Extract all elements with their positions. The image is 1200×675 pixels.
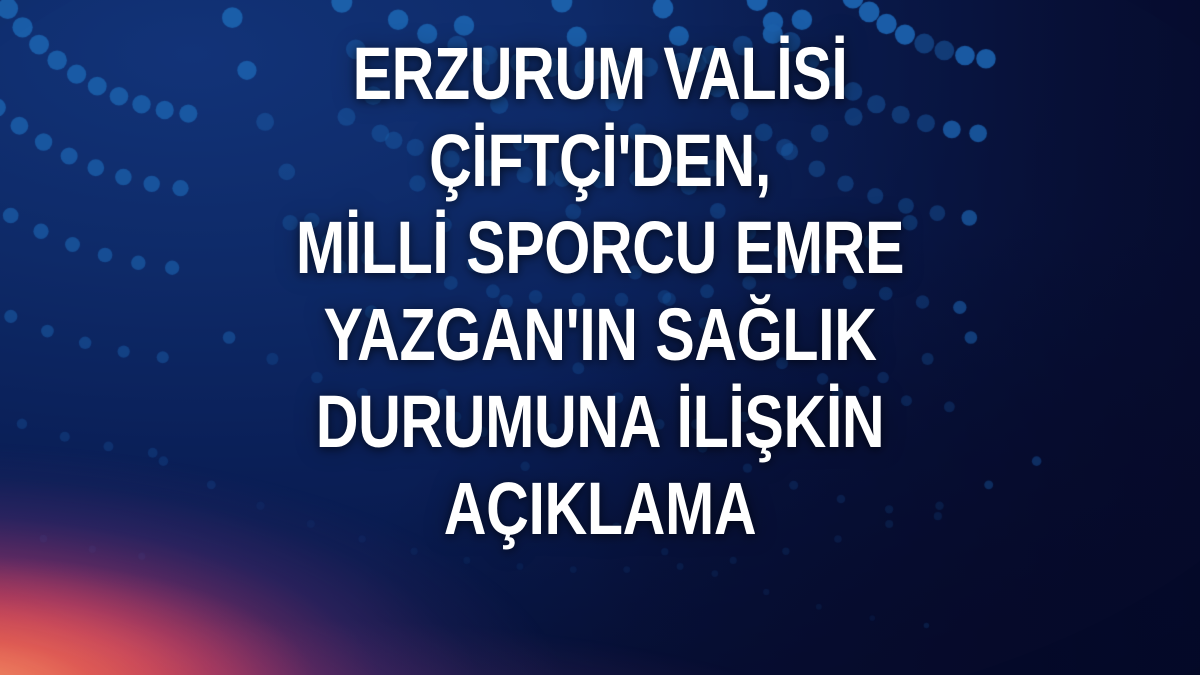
headline-text: ERZURUM VALİSİ ÇİFTÇİ'DEN, MİLLİ SPORCU … bbox=[120, 30, 1080, 552]
headline-line-5: DURUMUNA İLİŞKİN bbox=[120, 378, 1080, 465]
headline-line-3: MİLLİ SPORCU EMRE bbox=[120, 204, 1080, 291]
headline-line-4: YAZGAN'IN SAĞLIK bbox=[120, 291, 1080, 378]
headline-line-1: ERZURUM VALİSİ bbox=[120, 30, 1080, 117]
news-thumbnail-card: ERZURUM VALİSİ ÇİFTÇİ'DEN, MİLLİ SPORCU … bbox=[0, 0, 1200, 675]
headline-line-6: AÇIKLAMA bbox=[120, 465, 1080, 552]
headline-line-2: ÇİFTÇİ'DEN, bbox=[120, 117, 1080, 204]
